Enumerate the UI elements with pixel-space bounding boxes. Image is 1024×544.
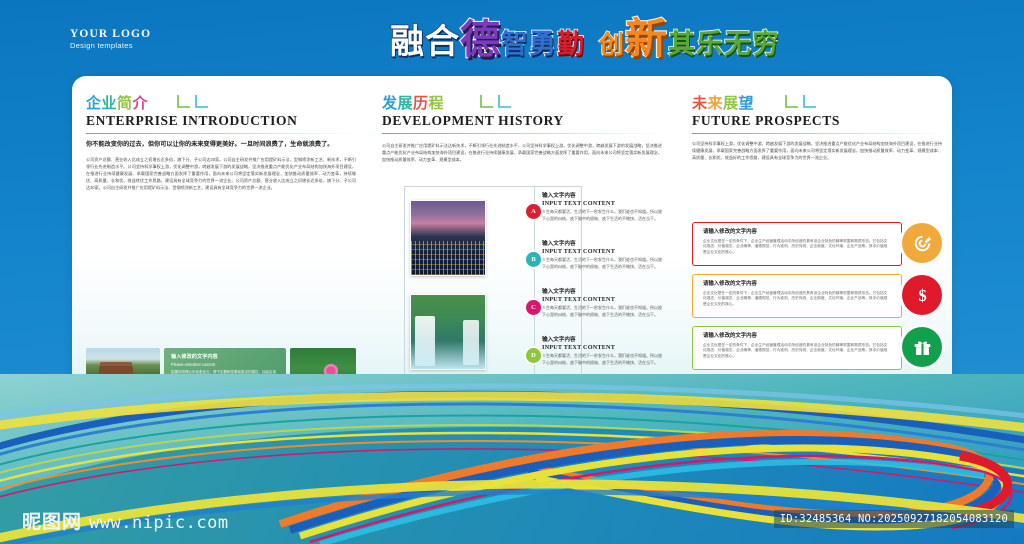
timeline-item-cn: 输入文字内容 (542, 192, 662, 200)
gift-icon[interactable] (902, 327, 942, 367)
logo-title: YOUR LOGO (70, 28, 151, 41)
column-future-prospects: 未来展望 FUTURE PROSPECTS 公司坚持科学事权上游，优化调整中游，… (692, 94, 942, 161)
timeline-item-cn: 输入文字内容 (542, 336, 662, 344)
section-cn-title-history: 发展历程 (382, 94, 662, 112)
watermark-url: www.nipic.com (89, 513, 229, 533)
headline-part-1: 融合 (390, 23, 460, 61)
column-development-history: 发展历程 DEVELOPMENT HISTORY 公司自主研发并推广应用提矿料示… (382, 94, 662, 163)
section-cn-title-enterprise: 企业简介 (86, 94, 356, 112)
svg-text:$: $ (918, 286, 926, 305)
headline-part-5: 创 (599, 26, 625, 64)
timeline-badge: C (526, 300, 541, 315)
watermark: 昵图网 www.nipic.com (22, 507, 229, 534)
photo-city-night (410, 200, 486, 276)
section-rule (382, 133, 662, 134)
section-en-title-history: DEVELOPMENT HISTORY (382, 113, 662, 129)
prospects-box-body: 企业文化是在一定的条件下，企业生产经营管理活动中所创造的具有该企业特色的精神财富… (703, 239, 891, 256)
history-body-text: 公司自主研发并推广应用提矿料示法达新技术，不断引领行业先进制造水平，公司坚持科学… (382, 142, 662, 163)
timeline-badge: D (526, 348, 541, 363)
content-card: 企业简介 ENTERPRISE INTRODUCTION 你不能改变你的过去，但… (72, 76, 952, 420)
prospects-body-text: 公司坚持科学事权上游，优化调整中游，跨越发展下游的发展战略，坚决推进重点产能优化… (692, 140, 942, 161)
section-en-title-prospects: FUTURE PROSPECTS (692, 113, 942, 129)
timeline-item-en: INPUT TEXT CONTENT (542, 344, 662, 352)
gift-icon-glyph (912, 337, 933, 358)
timeline-item-en: INPUT TEXT CONTENT (542, 296, 662, 304)
section-header-prospects: 未来展望 FUTURE PROSPECTS (692, 94, 942, 134)
timeline-badge: A (526, 204, 541, 219)
dollar-icon-glyph: $ (912, 285, 933, 306)
column-enterprise-introduction: 企业简介 ENTERPRISE INTRODUCTION 你不能改变你的过去，但… (86, 94, 356, 191)
headline-part-7: 其乐无穷 (668, 26, 780, 64)
prospects-box-body: 企业文化是在一定的条件下，企业生产经营管理活动中所创造的具有该企业特色的精神财富… (703, 343, 891, 360)
timeline-item-cn: 输入文字内容 (542, 240, 662, 248)
headline-part-4: 勤 (557, 26, 585, 64)
timeline-item-body: 人生每天都要活、生活的下一秒发生什么，我们谁也不知道。所以放下心里的纠结、放下脑… (542, 209, 662, 222)
dollar-icon[interactable]: $ (902, 275, 942, 315)
timeline-item-body: 人生每天都要活、生活的下一秒发生什么，我们谁也不知道。所以放下心里的纠结、放下脑… (542, 353, 662, 366)
enterprise-lead-text: 你不能改变你的过去，但你可以让你的未来变得更美好。一旦时间浪费了，生命就浪费了。 (86, 141, 356, 150)
prospects-row[interactable]: 请输入修改的文字内容 企业文化是在一定的条件下，企业生产经营管理活动中所创造的具… (692, 274, 942, 318)
green-callout-cn: 输入修改的文字内容 (171, 354, 279, 361)
green-callout-en: Please entertext content (171, 362, 279, 368)
timeline-item-en: INPUT TEXT CONTENT (542, 248, 662, 256)
timeline-item-body: 人生每天都要活、生活的下一秒发生什么，我们谁也不知道。所以放下心里的纠结、放下脑… (542, 305, 662, 318)
watermark-cn: 昵图网 (22, 507, 82, 534)
headline-part-2: 德 (460, 21, 501, 59)
timeline-item-body: 人生每天都要活、生活的下一秒发生什么，我们谁也不知道。所以放下心里的纠结、放下脑… (542, 257, 662, 270)
section-en-title-enterprise: ENTERPRISE INTRODUCTION (86, 113, 356, 129)
photo-waterfall (410, 294, 486, 370)
section-header-history: 发展历程 DEVELOPMENT HISTORY (382, 94, 662, 134)
prospects-row[interactable]: 请输入修改的文字内容 企业文化是在一定的条件下，企业生产经营管理活动中所创造的具… (692, 222, 942, 266)
poster-headline: 融合德智勇勤创新其乐无穷 (390, 20, 780, 64)
target-icon[interactable] (902, 223, 942, 263)
arrow-decor-icon (477, 93, 521, 113)
prospects-row[interactable]: 请输入修改的文字内容 企业文化是在一定的条件下，企业生产经营管理活动中所创造的具… (692, 326, 942, 370)
timeline-badge: B (526, 252, 541, 267)
prospects-box-title: 请输入修改的文字内容 (703, 281, 891, 289)
logo: YOUR LOGO Design templates (70, 28, 151, 51)
arrow-decor-icon (174, 93, 218, 113)
logo-subtitle: Design templates (70, 42, 151, 51)
timeline-item[interactable]: D 输入文字内容 INPUT TEXT CONTENT 人生每天都要活、生活的下… (542, 336, 662, 366)
headline-part-6: 新 (625, 20, 668, 58)
section-rule (692, 133, 942, 134)
section-header-enterprise: 企业简介 ENTERPRISE INTRODUCTION (86, 94, 356, 134)
prospects-box[interactable]: 请输入修改的文字内容 企业文化是在一定的条件下，企业生产经营管理活动中所创造的具… (692, 326, 902, 370)
target-icon-glyph (912, 233, 933, 254)
id-tag: ID:32485364 NO:20250927182054083120 (774, 510, 1014, 528)
timeline-item-cn: 输入文字内容 (542, 288, 662, 296)
poster-header: YOUR LOGO Design templates 融合德智勇勤创新其乐无穷 (0, 0, 1024, 66)
arrow-decor-icon (782, 93, 826, 113)
enterprise-body-text: 公司资产总额、营业收入比成立之初增长近多倍，旗下分、子公司达30家。公司自主研发… (86, 156, 356, 191)
prospects-box-title: 请输入修改的文字内容 (703, 229, 891, 237)
section-rule (86, 133, 356, 134)
prospects-box[interactable]: 请输入修改的文字内容 企业文化是在一定的条件下，企业生产经营管理活动中所创造的具… (692, 222, 902, 266)
timeline-item[interactable]: B 输入文字内容 INPUT TEXT CONTENT 人生每天都要活、生活的下… (542, 240, 662, 270)
poster-canvas: YOUR LOGO Design templates 融合德智勇勤创新其乐无穷 … (0, 0, 1024, 544)
timeline-item-en: INPUT TEXT CONTENT (542, 200, 662, 208)
headline-part-3: 智勇 (501, 26, 557, 64)
prospects-box-title: 请输入修改的文字内容 (703, 333, 891, 341)
prospects-box[interactable]: 请输入修改的文字内容 企业文化是在一定的条件下，企业生产经营管理活动中所创造的具… (692, 274, 902, 318)
timeline-item[interactable]: A 输入文字内容 INPUT TEXT CONTENT 人生每天都要活、生活的下… (542, 192, 662, 222)
prospects-box-body: 企业文化是在一定的条件下，企业生产经营管理活动中所创造的具有该企业特色的精神财富… (703, 291, 891, 308)
history-timeline: A 输入文字内容 INPUT TEXT CONTENT 人生每天都要活、生活的下… (382, 186, 662, 386)
timeline-item[interactable]: C 输入文字内容 INPUT TEXT CONTENT 人生每天都要活、生活的下… (542, 288, 662, 318)
